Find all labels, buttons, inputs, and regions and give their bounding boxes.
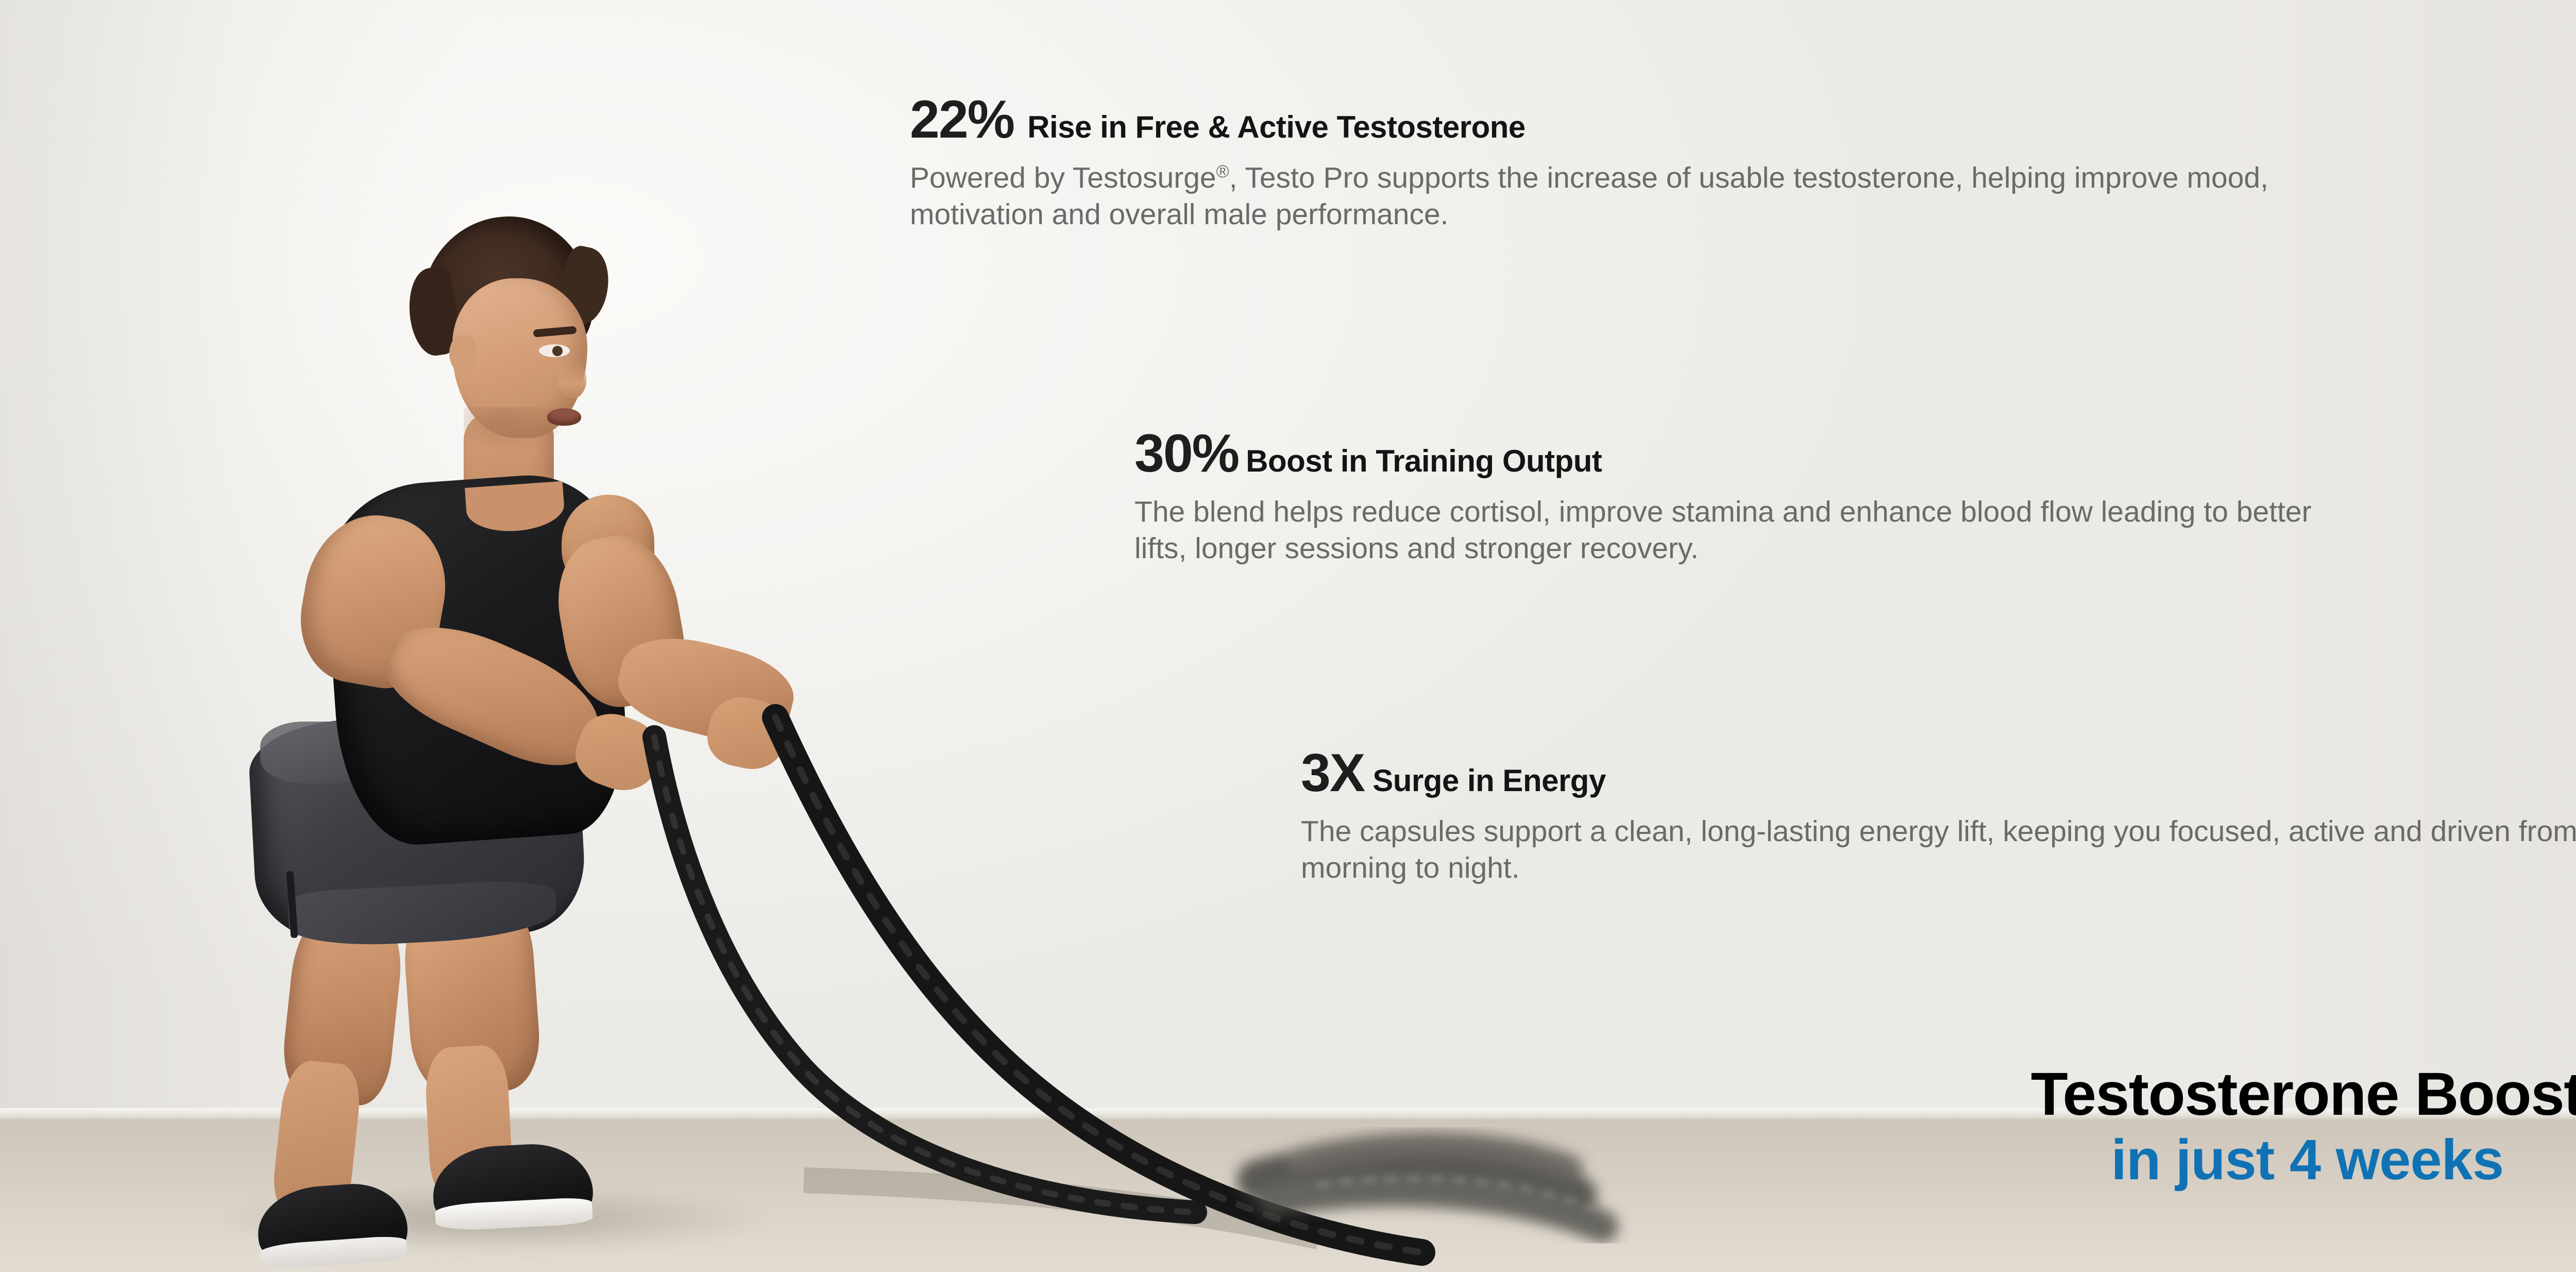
stat-1-label: Rise in Free & Active Testosterone	[1027, 112, 1526, 143]
stat-3-label: Surge in Energy	[1372, 765, 1606, 796]
stat-block-3: 3X Surge in Energy The capsules support …	[1301, 746, 2576, 886]
stat-block-1: 22% Rise in Free & Active Testosterone P…	[910, 93, 2394, 232]
stat-2-heading: 30% Boost in Training Output	[1134, 427, 2371, 480]
registered-trademark-icon: ®	[1216, 162, 1229, 181]
stat-1-body: Powered by Testosurge®, Testo Pro suppor…	[910, 160, 2394, 232]
headline-sub: in just 4 weeks	[2031, 1130, 2576, 1191]
stat-1-number: 22%	[910, 93, 1014, 146]
promo-banner: 22% Rise in Free & Active Testosterone P…	[0, 0, 2576, 1272]
stat-3-number: 3X	[1301, 746, 1364, 800]
stat-2-body: The blend helps reduce cortisol, improve…	[1134, 494, 2371, 566]
stat-1-heading: 22% Rise in Free & Active Testosterone	[910, 93, 2394, 146]
stat-block-2: 30% Boost in Training Output The blend h…	[1134, 427, 2371, 566]
stat-1-body-pre: Powered by Testosurge	[910, 161, 1216, 194]
copy-column: 22% Rise in Free & Active Testosterone P…	[0, 0, 2576, 1272]
stat-2-number: 30%	[1134, 427, 1239, 480]
stat-3-body: The capsules support a clean, long-lasti…	[1301, 813, 2576, 886]
bottom-headline: Testosterone Boost in just 4 weeks	[2031, 1063, 2576, 1190]
stat-3-heading: 3X Surge in Energy	[1301, 746, 2576, 800]
headline-main: Testosterone Boost	[2031, 1063, 2576, 1126]
stat-2-label: Boost in Training Output	[1246, 446, 1602, 477]
